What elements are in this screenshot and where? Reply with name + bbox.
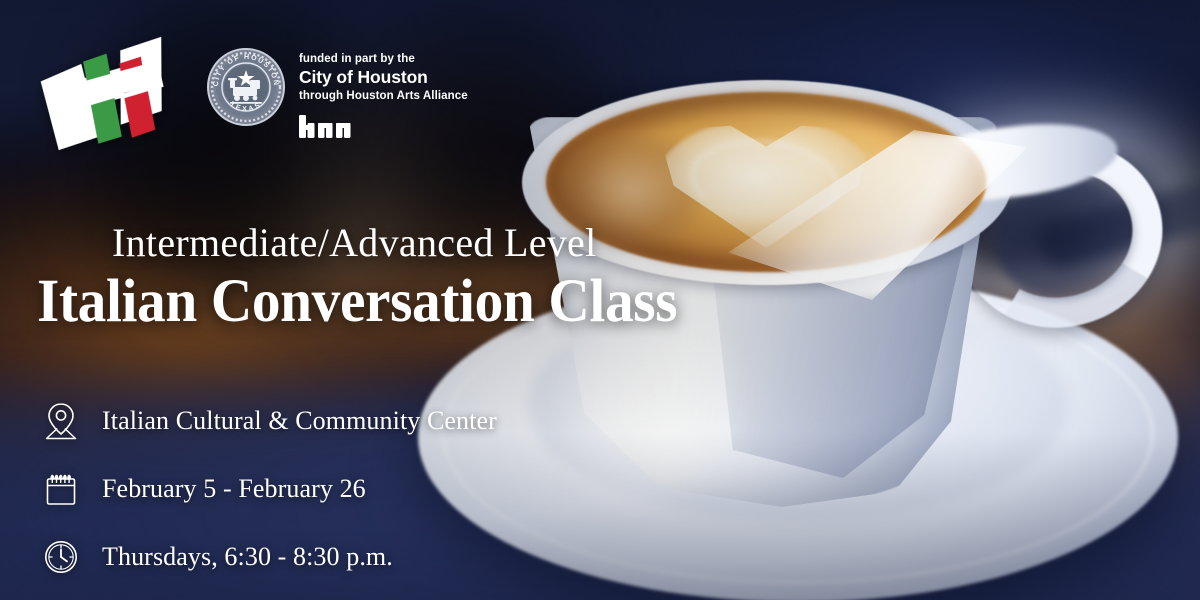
- logo-header: CITY OF HOUSTON TEXAS funded in part by …: [38, 42, 468, 146]
- funding-line-3: through Houston Arts Alliance: [299, 89, 468, 104]
- detail-row-location: Italian Cultural & Community Center: [40, 398, 497, 444]
- map-pin-icon: [40, 398, 82, 444]
- headline-group: Intermediate/Advanced Level Italian Conv…: [112, 222, 718, 335]
- event-banner: CITY OF HOUSTON TEXAS funded in part by …: [0, 0, 1200, 600]
- houston-arts-alliance-logo: [299, 115, 468, 139]
- banner-content: CITY OF HOUSTON TEXAS funded in part by …: [0, 0, 1200, 600]
- clock-icon: [40, 534, 82, 580]
- funding-credit-text: funded in part by the City of Houston th…: [299, 47, 468, 139]
- city-of-houston-funding-block: CITY OF HOUSTON TEXAS funded in part by …: [206, 42, 468, 139]
- eyebrow-text: Intermediate/Advanced Level: [112, 222, 718, 264]
- funding-line-2: City of Houston: [299, 67, 468, 88]
- calendar-icon: [40, 466, 82, 512]
- page-title: Italian Conversation Class: [37, 270, 677, 335]
- detail-text-dates: February 5 - February 26: [102, 474, 366, 504]
- italian-cultural-community-center-h-logo: [34, 36, 175, 151]
- detail-text-location: Italian Cultural & Community Center: [102, 406, 497, 436]
- city-of-houston-seal: CITY OF HOUSTON TEXAS: [206, 47, 286, 127]
- detail-row-dates: February 5 - February 26: [40, 466, 497, 512]
- event-details-list: Italian Cultural & Community Center: [40, 398, 497, 580]
- detail-row-time: Thursdays, 6:30 - 8:30 p.m.: [40, 534, 497, 580]
- funding-line-1: funded in part by the: [299, 52, 468, 66]
- detail-text-time: Thursdays, 6:30 - 8:30 p.m.: [102, 542, 393, 572]
